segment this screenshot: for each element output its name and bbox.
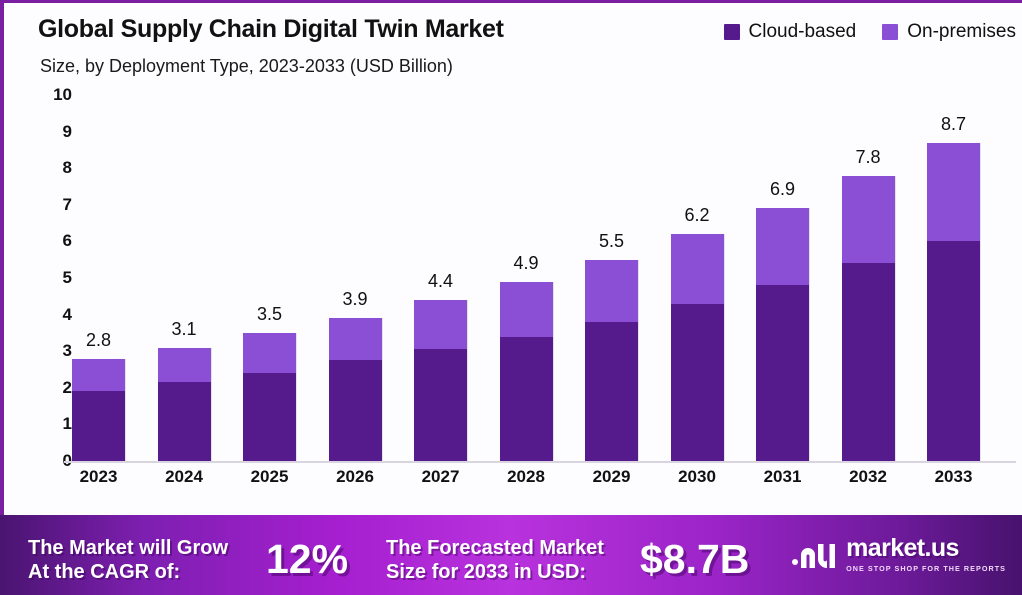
bar-value-label: 4.9 [513,253,538,274]
y-axis-tick-label: 5 [63,268,72,288]
chart-infographic: Global Supply Chain Digital Twin Market … [0,0,1022,595]
plot-area: 012345678910 2.83.13.53.94.44.95.56.26.9… [4,95,1022,515]
x-axis-tick-label: 2023 [72,467,125,487]
bar-value-label: 7.8 [855,147,880,168]
y-axis-tick-label: 9 [63,122,72,142]
bar-value-label: 3.9 [342,289,367,310]
x-axis-tick-label: 2024 [158,467,211,487]
cagr-value: 12% [266,539,348,580]
y-axis-tick-label: 8 [63,158,72,178]
brand-name: market.us [846,536,1006,561]
bar-segment-cloud-based[interactable] [842,263,895,461]
bar-segment-on-premises[interactable] [243,333,296,373]
y-axis-tick-label: 6 [63,231,72,251]
legend-swatch-icon [724,24,740,40]
bar-column[interactable]: 4.4 [414,95,467,461]
forecast-value: $8.7B [640,539,749,580]
y-axis-tick-label: 1 [63,414,72,434]
x-axis-tick-label: 2030 [671,467,724,487]
y-axis-tick-label: 10 [53,85,72,105]
bar-value-label: 6.2 [684,205,709,226]
bar-segment-cloud-based[interactable] [927,241,980,461]
bar-segment-cloud-based[interactable] [671,304,724,461]
bar-value-label: 5.5 [599,231,624,252]
bar-segment-cloud-based[interactable] [158,382,211,461]
x-axis-tick-label: 2033 [927,467,980,487]
bar-column[interactable]: 6.9 [756,95,809,461]
bar-value-label: 8.7 [941,114,966,135]
bar-segment-on-premises[interactable] [500,282,553,337]
y-axis-tick-label: 7 [63,195,72,215]
forecast-label-line1: The Forecasted Market [386,537,604,559]
bar-segment-cloud-based[interactable] [585,322,638,461]
brand-logo[interactable]: market.us ONE STOP SHOP FOR THE REPORTS [791,536,1006,573]
bar-column[interactable]: 8.7 [927,95,980,461]
forecast-label-line2: Size for 2033 in USD: [386,561,586,583]
x-axis-tick-label: 2029 [585,467,638,487]
bar-segment-on-premises[interactable] [671,234,724,304]
stacked-bar[interactable] [927,143,980,461]
bar-segment-cloud-based[interactable] [500,337,553,461]
legend-item-2[interactable]: On-premises [882,21,1016,43]
legend-swatch-icon [882,24,898,40]
bar-segment-cloud-based[interactable] [243,373,296,461]
bar-column[interactable]: 5.5 [585,95,638,461]
x-axis-tick-label: 2026 [329,467,382,487]
stacked-bar[interactable] [329,318,382,461]
chart-legend: Cloud-basedOn-premises [724,21,1017,43]
stacked-bar[interactable] [243,333,296,461]
bar-segment-on-premises[interactable] [414,300,467,349]
legend-label: Cloud-based [749,21,857,43]
chart-header: Global Supply Chain Digital Twin Market … [4,3,1022,95]
bar-column[interactable]: 2.8 [72,95,125,461]
x-axis-labels: 2023202420252026202720282029203020312032… [72,467,1016,497]
bar-column[interactable]: 3.5 [243,95,296,461]
bar-value-label: 4.4 [428,271,453,292]
bar-segment-on-premises[interactable] [72,359,125,392]
bar-value-label: 6.9 [770,179,795,200]
bar-value-label: 3.5 [257,304,282,325]
bar-segment-on-premises[interactable] [756,208,809,285]
stacked-bar[interactable] [72,359,125,461]
x-axis-tick-label: 2028 [500,467,553,487]
market-us-logo-icon [791,538,837,572]
chart-subtitle: Size, by Deployment Type, 2023-2033 (USD… [40,56,453,77]
x-axis-tick-label: 2025 [243,467,296,487]
footer-banner: The Market will Grow At the CAGR of: 12%… [0,515,1022,595]
bar-segment-cloud-based[interactable] [756,285,809,461]
bar-segment-on-premises[interactable] [329,318,382,360]
legend-item-1[interactable]: Cloud-based [724,21,857,43]
bar-column[interactable]: 3.1 [158,95,211,461]
y-axis: 012345678910 [40,95,72,455]
cagr-label: The Market will Grow At the CAGR of: [28,537,228,584]
stacked-bar[interactable] [842,176,895,461]
stacked-bar[interactable] [500,282,553,461]
forecast-label: The Forecasted Market Size for 2033 in U… [386,537,604,584]
bar-value-label: 3.1 [171,319,196,340]
x-axis-tick-label: 2032 [842,467,895,487]
y-axis-tick-label: 4 [63,305,72,325]
bar-value-label: 2.8 [86,330,111,351]
y-axis-tick-label: 2 [63,378,72,398]
bar-column[interactable]: 4.9 [500,95,553,461]
x-axis-tick-label: 2027 [414,467,467,487]
bar-segment-cloud-based[interactable] [329,360,382,461]
bar-segment-on-premises[interactable] [927,143,980,242]
stacked-bar[interactable] [585,260,638,461]
cagr-label-line1: The Market will Grow [28,537,228,559]
cagr-label-line2: At the CAGR of: [28,561,180,583]
bar-segment-on-premises[interactable] [842,176,895,264]
bar-column[interactable]: 7.8 [842,95,895,461]
page-title: Global Supply Chain Digital Twin Market [38,15,504,44]
stacked-bar[interactable] [414,300,467,461]
brand-tagline: ONE STOP SHOP FOR THE REPORTS [846,564,1006,573]
bar-segment-cloud-based[interactable] [72,391,125,461]
stacked-bar[interactable] [671,234,724,461]
stacked-bar[interactable] [158,348,211,461]
stacked-bar[interactable] [756,208,809,461]
bar-segment-cloud-based[interactable] [414,349,467,461]
bar-series-group: 2.83.13.53.94.44.95.56.26.97.88.7 [72,95,1016,461]
x-axis-line [64,461,1016,463]
x-axis-tick-label: 2031 [756,467,809,487]
bar-segment-on-premises[interactable] [585,260,638,322]
bar-segment-on-premises[interactable] [158,348,211,383]
bar-column[interactable]: 6.2 [671,95,724,461]
legend-label: On-premises [907,21,1016,43]
y-axis-tick-label: 3 [63,341,72,361]
bar-column[interactable]: 3.9 [329,95,382,461]
